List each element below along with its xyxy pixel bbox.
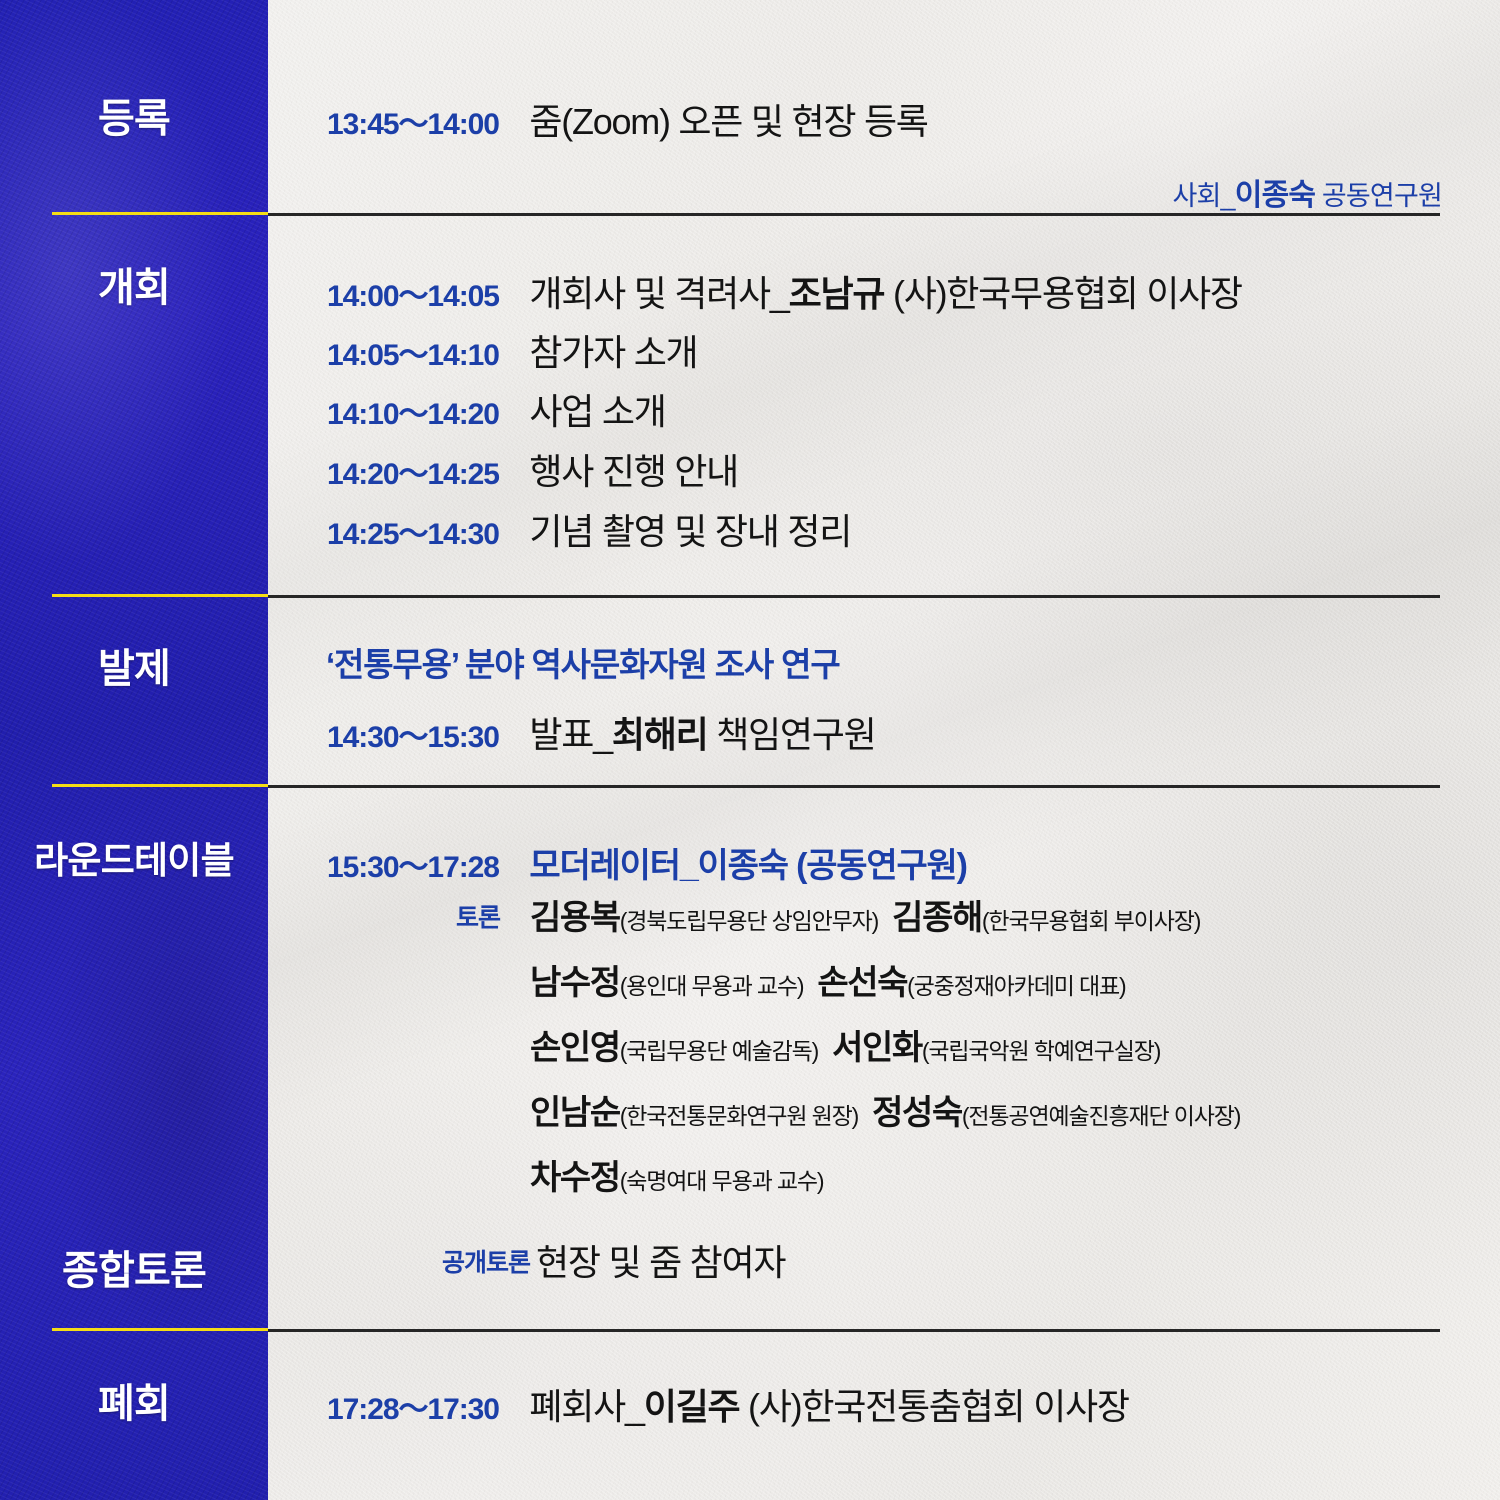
moderator-text: 모더레이터_이종숙 (공동연구원) bbox=[529, 847, 966, 885]
divider-dark-line bbox=[268, 1329, 1440, 1332]
row-desc-prefix: 폐회사_ bbox=[529, 1386, 643, 1427]
open-discussion-text: 현장 및 줌 참여자 bbox=[536, 1234, 785, 1286]
row-description: 폐회사_이길주 (사)한국전통춤협회 이사장 bbox=[529, 1386, 1128, 1427]
section-label-registration: 등록 bbox=[0, 86, 268, 144]
row-description: 행사 진행 안내 bbox=[529, 451, 738, 492]
section-label-general-discussion: 종합토론 bbox=[0, 1238, 268, 1296]
section-divider bbox=[0, 210, 1500, 216]
panelist-affiliation: (국립국악원 학예연구실장) bbox=[922, 1038, 1160, 1064]
panelist-name: 인남순 bbox=[530, 1094, 620, 1132]
row-roundtable-moderator: 15:30～17:28 모더레이터_이종숙 (공동연구원) bbox=[327, 838, 967, 887]
row-time: 14:05～14:10 bbox=[327, 339, 499, 372]
panelist-name: 김종해 bbox=[892, 899, 982, 937]
host-prefix: 사회_ bbox=[1173, 181, 1235, 211]
panelist-affiliation: (한국무용협회 부이사장) bbox=[982, 908, 1200, 934]
row-description: 줌(Zoom) 오픈 및 현장 등록 bbox=[529, 101, 927, 142]
row-presentation: 14:30～15:30 발표_최해리 책임연구원 bbox=[327, 706, 876, 758]
panelist-affiliation: (궁중정재아카데미 대표) bbox=[907, 973, 1125, 999]
row-description: 참가자 소개 bbox=[529, 332, 697, 373]
panelist-affiliation: (국립무용단 예술감독) bbox=[620, 1038, 818, 1064]
divider-gold-line bbox=[52, 594, 268, 597]
section-label-closing: 폐회 bbox=[0, 1371, 268, 1429]
divider-dark-line bbox=[268, 213, 1440, 216]
row-time: 14:20～14:25 bbox=[327, 458, 499, 491]
row-description: 발표_최해리 책임연구원 bbox=[529, 714, 875, 755]
row-opening-3: 14:10～14:20 사업 소개 bbox=[327, 383, 666, 435]
panelist-name: 손인영 bbox=[530, 1029, 620, 1067]
host-role: 공동연구원 bbox=[1315, 181, 1442, 211]
row-opening-4: 14:20～14:25 행사 진행 안내 bbox=[327, 443, 738, 495]
row-desc-suffix: 책임연구원 bbox=[707, 714, 875, 755]
row-time: 14:10～14:20 bbox=[327, 398, 499, 431]
row-time: 14:00～14:05 bbox=[327, 280, 499, 313]
panelist-affiliation: (한국전통문화연구원 원장) bbox=[620, 1103, 858, 1129]
panelist-name: 서인화 bbox=[832, 1029, 922, 1067]
row-desc-suffix: (사)한국전통춤협회 이사장 bbox=[739, 1386, 1128, 1427]
panel-discussion-tag: 토론 bbox=[400, 898, 500, 934]
row-desc-suffix: (사)한국무용협회 이사장 bbox=[884, 273, 1242, 314]
panelist-row-2: 남수정(용인대 무용과 교수)손선숙(궁중정재아카데미 대표) bbox=[530, 955, 1125, 1004]
panelist-row-5: 차수정(숙명여대 무용과 교수) bbox=[530, 1150, 823, 1199]
row-opening-5: 14:25～14:30 기념 촬영 및 장내 정리 bbox=[327, 503, 851, 555]
divider-gold-line bbox=[52, 784, 268, 787]
row-description: 사업 소개 bbox=[529, 391, 665, 432]
section-label-roundtable: 라운드테이블 bbox=[0, 830, 268, 884]
row-opening-1: 14:00～14:05 개회사 및 격려사_조남규 (사)한국무용협회 이사장 bbox=[327, 265, 1242, 317]
panelist-name: 정성숙 bbox=[872, 1094, 962, 1132]
panelist-name: 차수정 bbox=[530, 1159, 620, 1197]
panelist-name: 손선숙 bbox=[817, 964, 907, 1002]
panelist-name: 김용복 bbox=[530, 899, 620, 937]
row-opening-2: 14:05～14:10 참가자 소개 bbox=[327, 324, 697, 376]
host-name: 이종숙 bbox=[1235, 179, 1315, 212]
panelist-affiliation: (경북도립무용단 상임안무자) bbox=[620, 908, 878, 934]
divider-dark-line bbox=[268, 595, 1440, 598]
divider-dark-line bbox=[268, 785, 1440, 788]
section-label-presentation: 발제 bbox=[0, 636, 268, 694]
section-label-opening: 개회 bbox=[0, 255, 268, 313]
row-time: 13:45～14:00 bbox=[327, 108, 499, 141]
row-desc-person: 이길주 bbox=[644, 1386, 740, 1427]
row-description: 기념 촬영 및 장내 정리 bbox=[529, 511, 851, 552]
divider-gold-line bbox=[52, 212, 268, 215]
panelist-affiliation: (숙명여대 무용과 교수) bbox=[620, 1168, 824, 1194]
host-line: 사회_이종숙 공동연구원 bbox=[1173, 170, 1443, 214]
panelist-affiliation: (전통공연예술진흥재단 이사장) bbox=[962, 1103, 1240, 1129]
row-desc-prefix: 발표_ bbox=[529, 714, 611, 755]
panelist-row-3: 손인영(국립무용단 예술감독)서인화(국립국악원 학예연구실장) bbox=[530, 1020, 1160, 1069]
row-description: 개회사 및 격려사_조남규 (사)한국무용협회 이사장 bbox=[529, 273, 1241, 314]
panelist-row-1: 김용복(경북도립무용단 상임안무자)김종해(한국무용협회 부이사장) bbox=[530, 890, 1200, 939]
panelist-name: 남수정 bbox=[530, 964, 620, 1002]
row-desc-prefix: 개회사 및 격려사_ bbox=[529, 273, 788, 314]
row-time: 14:25～14:30 bbox=[327, 518, 499, 551]
panelist-row-4: 인남순(한국전통문화연구원 원장)정성숙(전통공연예술진흥재단 이사장) bbox=[530, 1085, 1240, 1134]
section-divider bbox=[0, 782, 1500, 788]
row-registration: 13:45～14:00 줌(Zoom) 오픈 및 현장 등록 bbox=[327, 93, 928, 145]
panelist-affiliation: (용인대 무용과 교수) bbox=[620, 973, 804, 999]
presentation-topic: ‘전통무용’ 분야 역사문화자원 조사 연구 bbox=[326, 638, 840, 686]
open-discussion-tag: 공개토론 bbox=[370, 1243, 530, 1279]
row-time: 15:30～17:28 bbox=[327, 851, 499, 884]
section-divider bbox=[0, 1326, 1500, 1332]
row-time: 17:28～17:30 bbox=[327, 1393, 499, 1426]
row-closing: 17:28～17:30 폐회사_이길주 (사)한국전통춤협회 이사장 bbox=[327, 1378, 1129, 1430]
row-desc-person: 최해리 bbox=[612, 714, 708, 755]
divider-gold-line bbox=[52, 1328, 268, 1331]
row-desc-person: 조남규 bbox=[789, 273, 885, 314]
row-time: 14:30～15:30 bbox=[327, 721, 499, 754]
section-divider bbox=[0, 592, 1500, 598]
